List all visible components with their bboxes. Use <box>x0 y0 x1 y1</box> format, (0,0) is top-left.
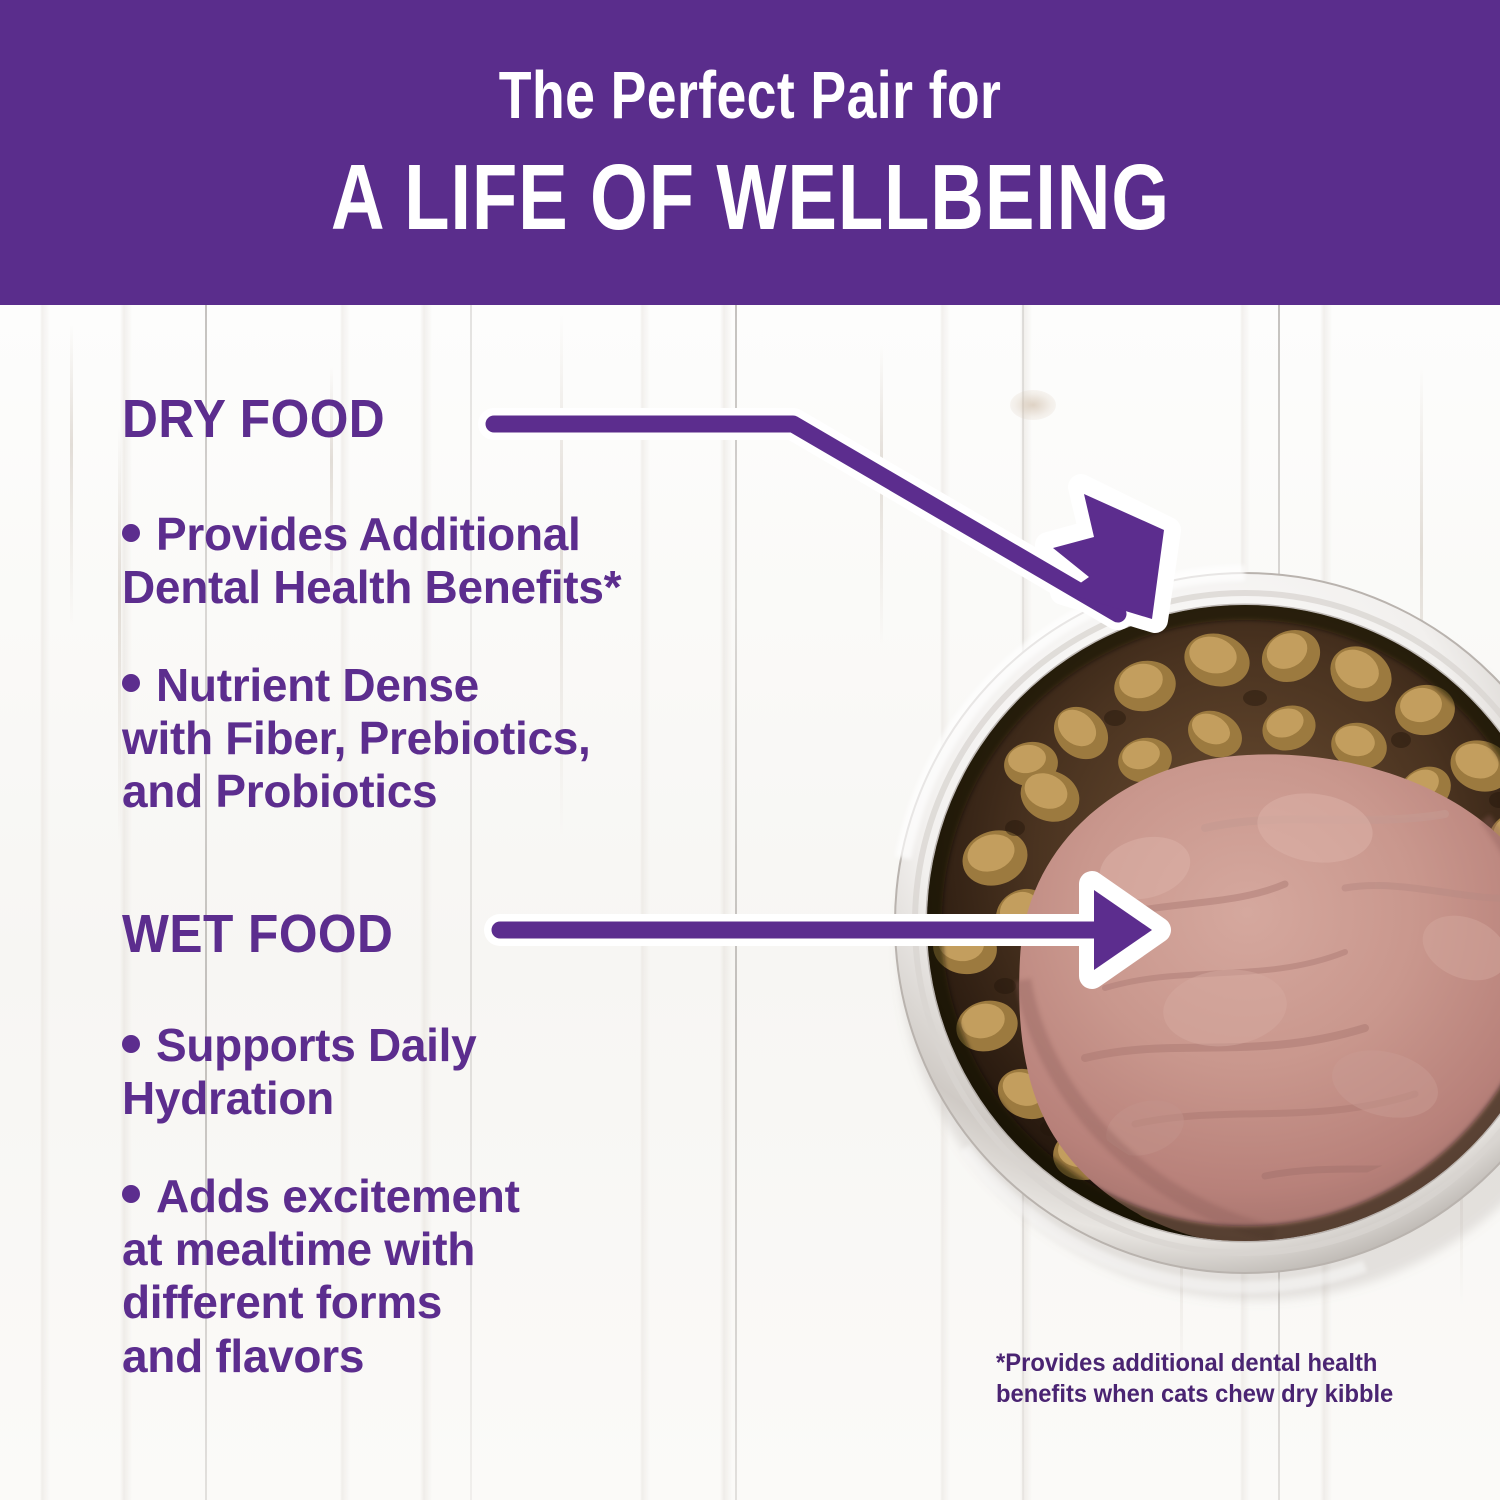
wet-food-heading: WET FOOD <box>122 907 766 961</box>
dry-bullet-2-line-3: and Probiotics <box>122 765 437 817</box>
benefits-copy: DRY FOOD Provides Additional Dental Heal… <box>122 392 822 1383</box>
header-banner: The Perfect Pair for A LIFE OF WELLBEING <box>0 0 1500 305</box>
wood-grain <box>118 425 121 845</box>
wet-bullet-2-line-3: different forms <box>122 1276 442 1328</box>
dry-bullet-1-line-2: Dental Health Benefits* <box>122 561 621 613</box>
dry-bullet-2-line-2: with Fiber, Prebiotics, <box>122 712 591 764</box>
header-subtitle: The Perfect Pair for <box>499 62 1001 129</box>
bullet-dot-icon <box>122 524 140 542</box>
wood-knot <box>1010 390 1056 420</box>
dry-bullet-2-line-1: Nutrient Dense <box>156 659 479 711</box>
promo-graphic: The Perfect Pair for A LIFE OF WELLBEING… <box>0 0 1500 1500</box>
wet-food-bullet-2: Adds excitement at mealtime with differe… <box>122 1170 822 1383</box>
wet-bullet-2-line-4: and flavors <box>122 1330 364 1382</box>
bowl-illustration <box>845 528 1500 1328</box>
wood-grain <box>70 325 73 625</box>
dry-food-heading: DRY FOOD <box>122 392 766 446</box>
dry-food-bullet-2: Nutrient Dense with Fiber, Prebiotics, a… <box>122 659 822 819</box>
dry-bullet-1-line-1: Provides Additional <box>156 508 581 560</box>
bullet-dot-icon <box>122 1035 140 1053</box>
dry-food-bullet-1: Provides Additional Dental Health Benefi… <box>122 508 822 615</box>
bullet-dot-icon <box>122 674 140 692</box>
header-title: A LIFE OF WELLBEING <box>330 151 1169 244</box>
pet-food-bowl-image <box>845 528 1500 1328</box>
bullet-dot-icon <box>122 1185 140 1203</box>
footnote-line-1: *Provides additional dental health <box>996 1348 1433 1379</box>
wet-bullet-2-line-2: at mealtime with <box>122 1223 475 1275</box>
wet-bullet-2-line-1: Adds excitement <box>156 1170 520 1222</box>
wet-bullet-1-line-2: Hydration <box>122 1072 334 1124</box>
footnote: *Provides additional dental health benef… <box>996 1348 1433 1409</box>
wet-bullet-1-line-1: Supports Daily <box>156 1019 476 1071</box>
wet-food-bullet-1: Supports Daily Hydration <box>122 1019 822 1126</box>
footnote-line-2: benefits when cats chew dry kibble <box>996 1379 1433 1410</box>
